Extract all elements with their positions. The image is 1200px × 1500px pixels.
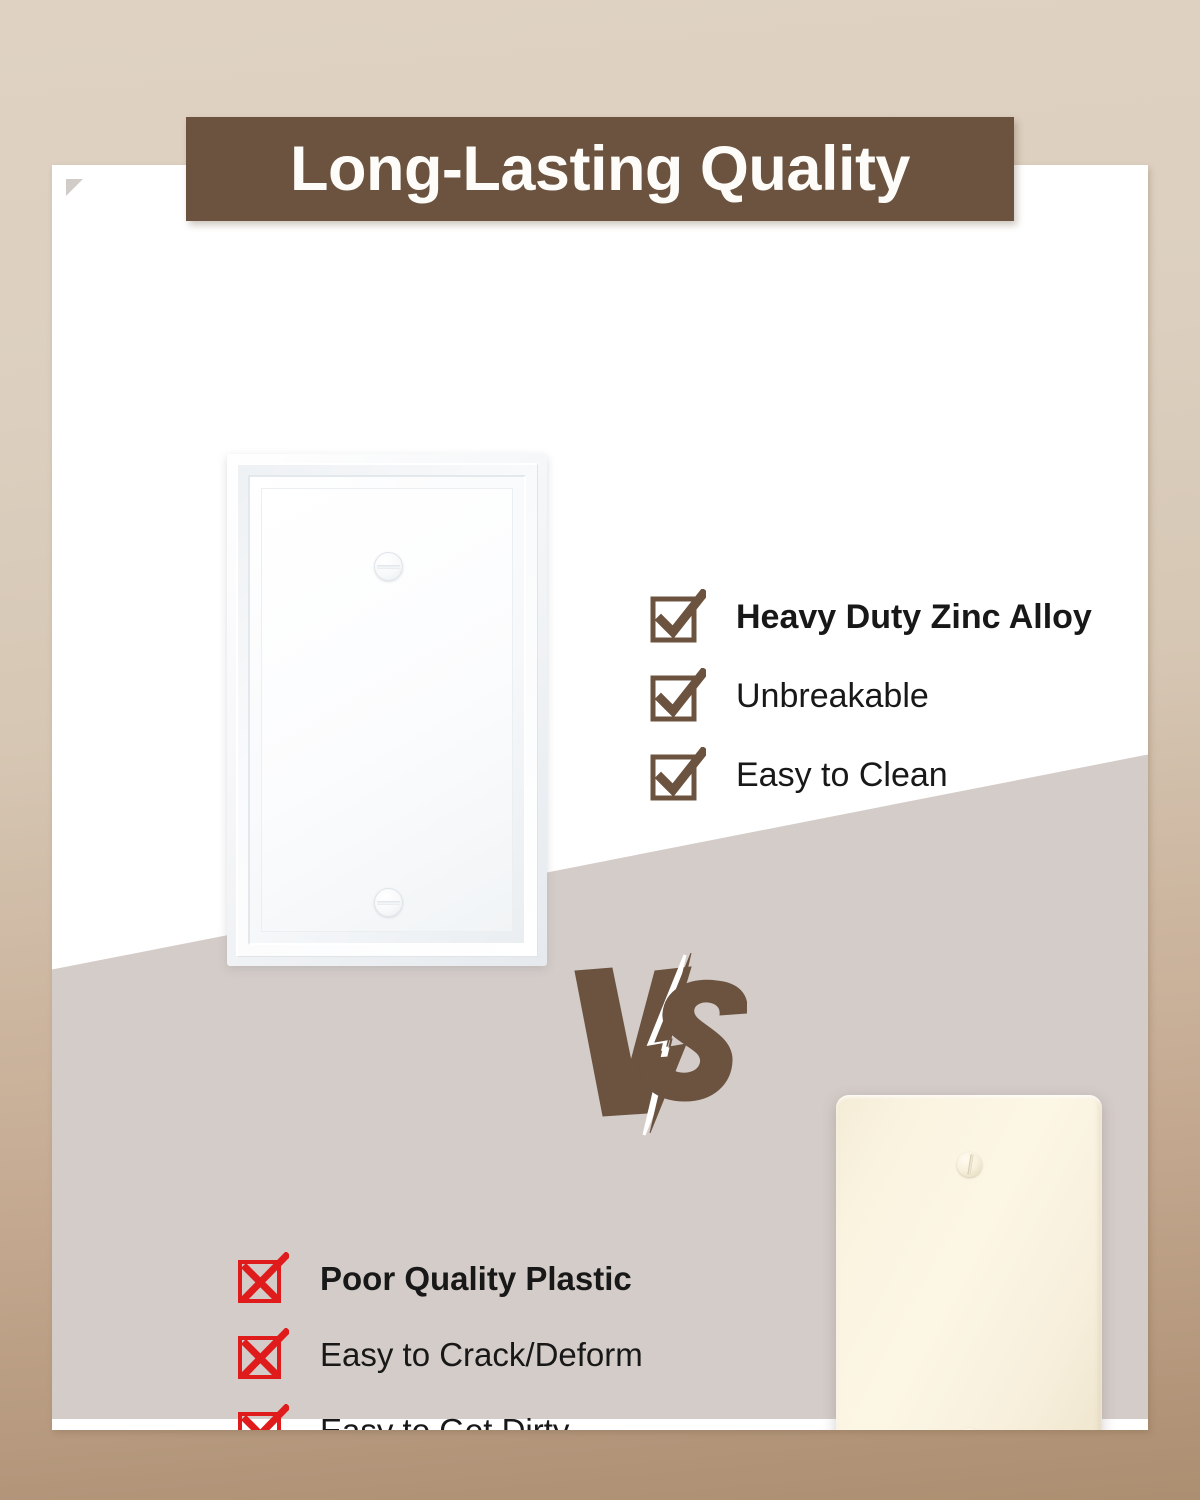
ivory-plastic-wall-plate-image	[836, 1095, 1102, 1430]
checkbox-checked-icon	[650, 747, 706, 803]
checkbox-checked-icon	[650, 589, 706, 645]
feature-row: Poor Quality Plastic	[237, 1240, 643, 1316]
feature-row: Unbreakable	[650, 656, 1092, 735]
white-metal-wall-plate-image	[227, 454, 547, 966]
vs-lightning-icon	[567, 953, 747, 1138]
feature-row: Easy to Get Dirty	[237, 1392, 643, 1430]
content-card: Heavy Duty Zinc Alloy Unbreakable	[52, 165, 1148, 1430]
screw-top-icon	[374, 552, 403, 581]
checkbox-crossed-icon	[237, 1252, 289, 1304]
bad-feature-list: Poor Quality Plastic Easy to Crack/Defor…	[237, 1240, 643, 1430]
checkbox-crossed-icon	[237, 1328, 289, 1380]
screw-bottom-icon	[374, 888, 403, 917]
title-banner: Long-Lasting Quality	[186, 117, 1014, 221]
feature-label: Easy to Crack/Deform	[320, 1338, 643, 1371]
feature-row: Heavy Duty Zinc Alloy	[650, 577, 1092, 656]
feature-row: Easy to Crack/Deform	[237, 1316, 643, 1392]
plate-face	[261, 488, 513, 932]
feature-label: Heavy Duty Zinc Alloy	[736, 600, 1092, 634]
feature-label: Easy to Clean	[736, 758, 948, 792]
feature-label: Unbreakable	[736, 679, 929, 713]
checkbox-crossed-icon	[237, 1404, 289, 1430]
infographic-stage: Heavy Duty Zinc Alloy Unbreakable	[0, 0, 1200, 1500]
feature-label: Easy to Get Dirty	[320, 1414, 569, 1431]
page-title: Long-Lasting Quality	[290, 138, 910, 201]
feature-row: Easy to Clean	[650, 735, 1092, 814]
feature-label: Poor Quality Plastic	[320, 1262, 632, 1295]
good-feature-list: Heavy Duty Zinc Alloy Unbreakable	[650, 577, 1092, 814]
screw-top-icon	[957, 1152, 982, 1177]
screw-bottom-icon	[957, 1428, 982, 1430]
checkbox-checked-icon	[650, 668, 706, 724]
page-fold-corner-icon	[66, 179, 83, 196]
